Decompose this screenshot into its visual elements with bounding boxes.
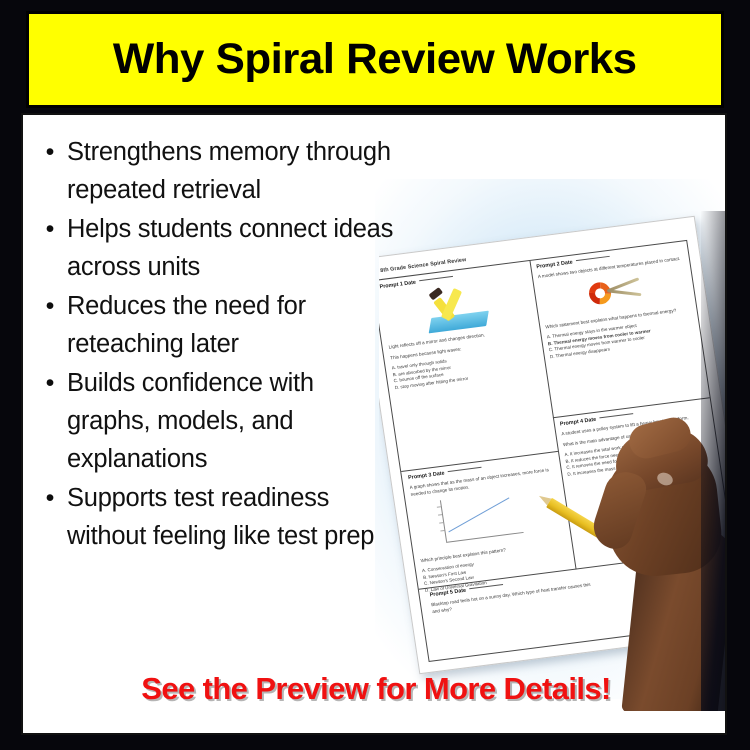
list-item: • Reduces the need for reteaching later — [33, 287, 401, 363]
list-item: • Supports test readiness without feelin… — [33, 479, 401, 555]
page-title: Why Spiral Review Works — [113, 35, 637, 84]
hand-with-pencil — [575, 409, 727, 711]
benefits-list: • Strengthens memory through repeated re… — [33, 133, 401, 556]
preview-cta-text: See the Preview for More Details! — [23, 671, 727, 707]
bullet-icon: • — [33, 479, 67, 517]
list-item-label: Builds confidence with graphs, models, a… — [67, 364, 401, 478]
bullet-icon: • — [33, 287, 67, 325]
poster-canvas: Why Spiral Review Works • Strengthens me… — [0, 0, 750, 750]
prompt-cell-3: Prompt 3 Date A graph shows that as the … — [401, 452, 575, 590]
list-item: • Builds confidence with graphs, models,… — [33, 364, 401, 478]
prompt-cell-2: Prompt 2 Date A model shows two objects … — [530, 241, 710, 417]
bullet-icon: • — [33, 364, 67, 402]
hot-tongs-icon — [573, 270, 655, 314]
prompt-cell-1: Prompt 1 Date Light reflects off a mirro… — [379, 261, 558, 471]
title-banner: Why Spiral Review Works — [26, 11, 724, 108]
list-item: • Strengthens memory through repeated re… — [33, 133, 401, 209]
list-item-label: Helps students connect ideas across unit… — [67, 210, 401, 286]
highlighter-check-icon — [414, 279, 498, 334]
list-item-label: Reduces the need for reteaching later — [67, 287, 401, 363]
worksheet-photo: 8th Grade Science Spiral Review Prompt 1… — [379, 211, 727, 711]
force-graph-icon — [432, 488, 531, 551]
bullet-icon: • — [33, 133, 67, 171]
list-item: • Helps students connect ideas across un… — [33, 210, 401, 286]
prompt-heading-label: Prompt 1 Date — [379, 280, 416, 291]
date-blank — [447, 467, 481, 472]
list-item-label: Supports test readiness without feeling … — [67, 479, 401, 555]
date-blank — [575, 256, 609, 261]
body-card: • Strengthens memory through repeated re… — [21, 113, 727, 735]
date-blank — [469, 584, 503, 589]
list-item-label: Strengthens memory through repeated retr… — [67, 133, 401, 209]
bullet-icon: • — [33, 210, 67, 248]
hand-illustration — [585, 409, 727, 711]
date-blank — [419, 276, 453, 281]
